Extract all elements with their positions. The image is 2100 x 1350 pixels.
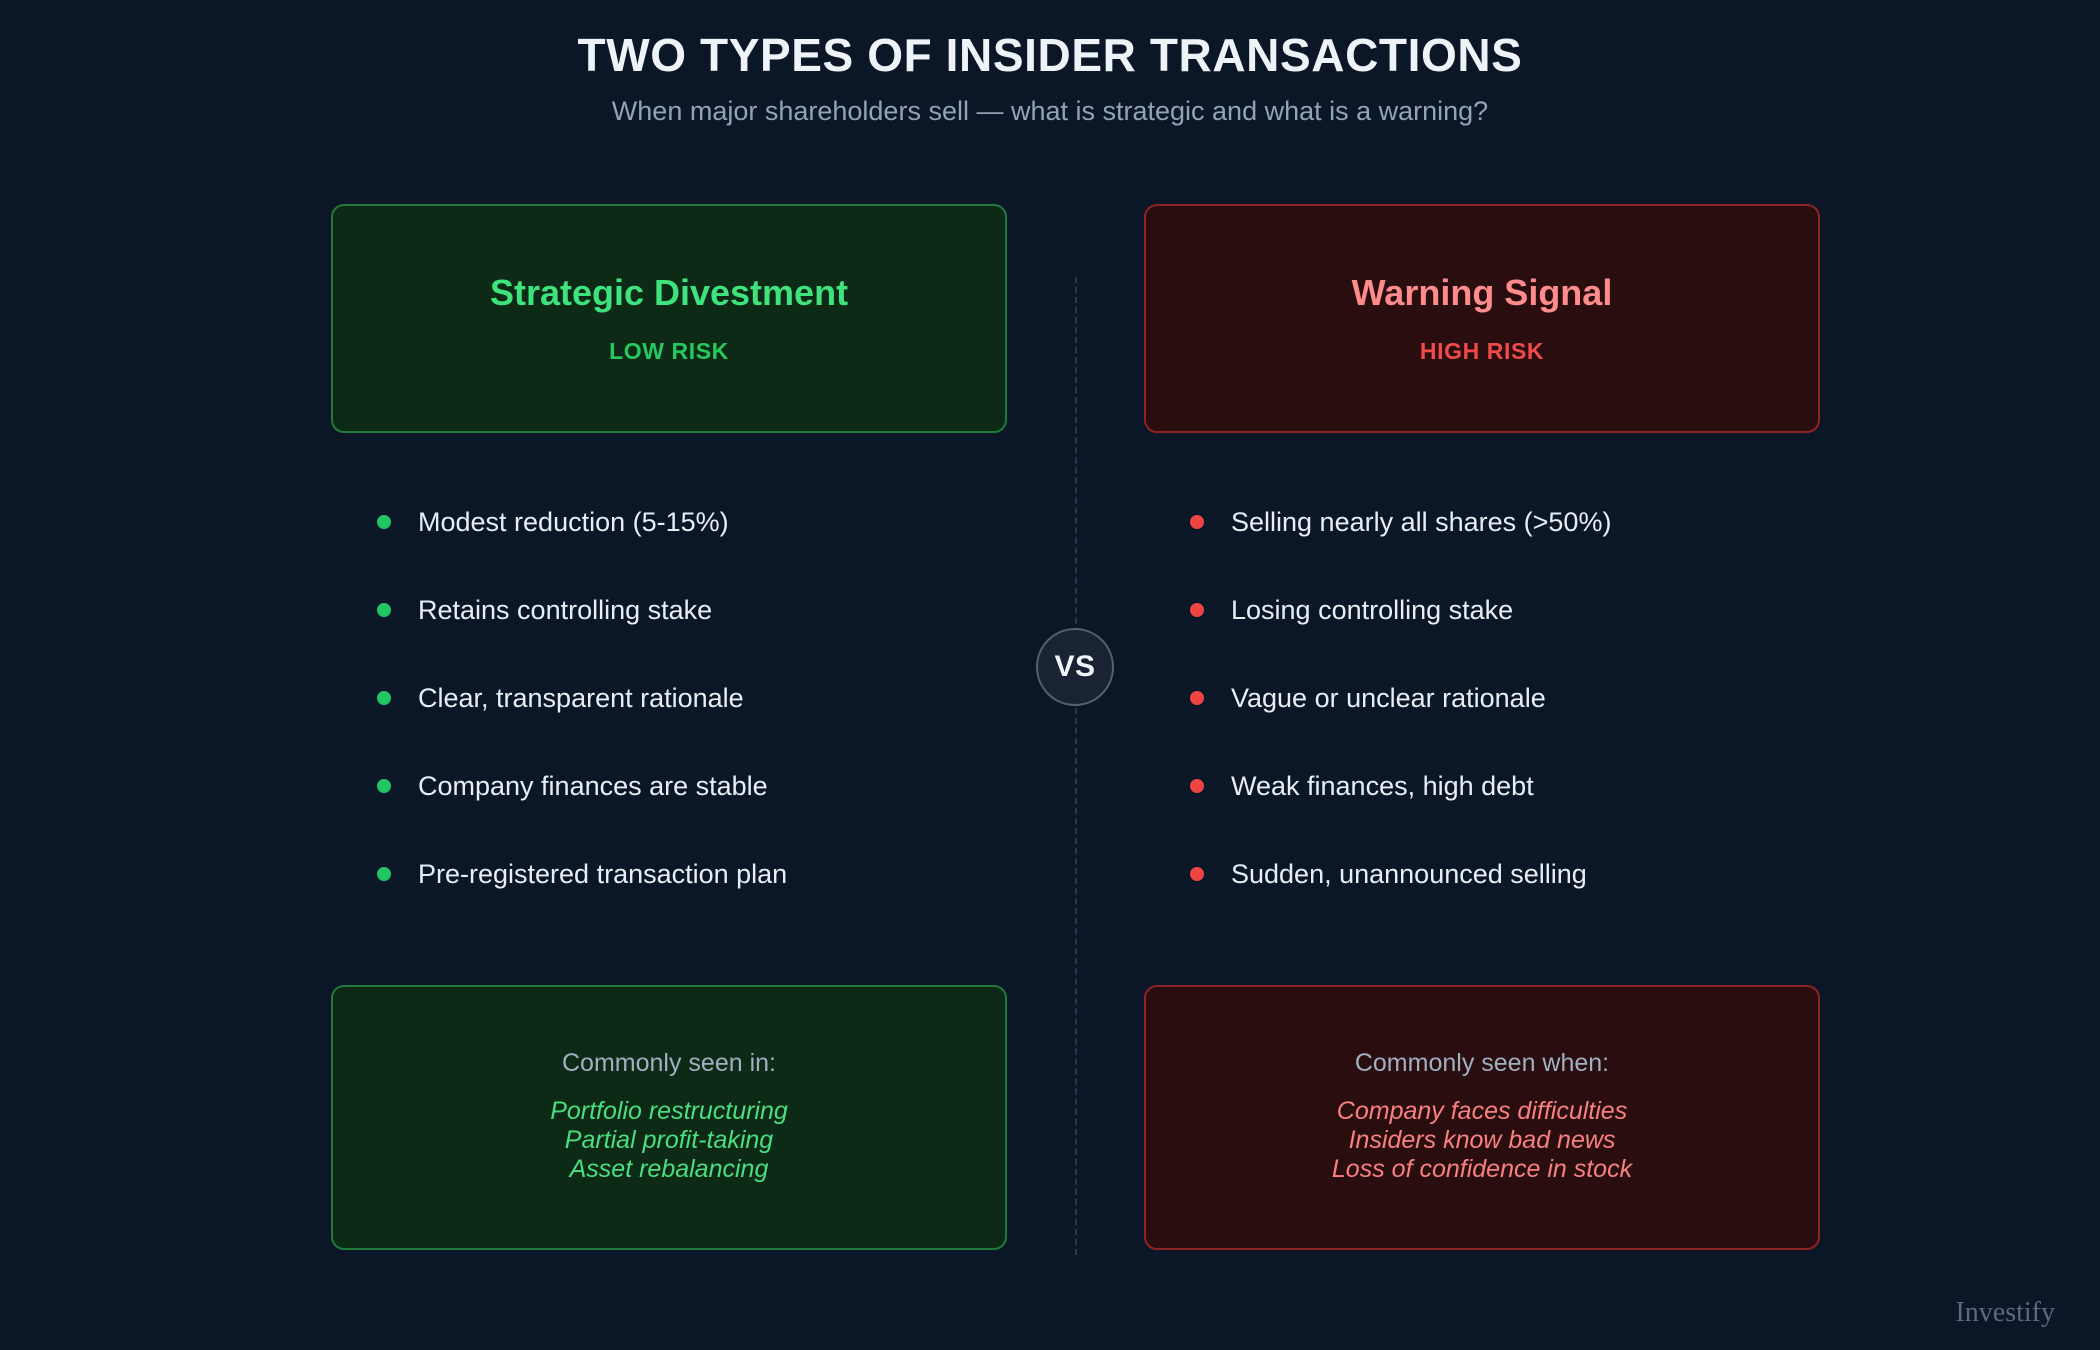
header-card-strategic-divestment: Strategic Divestment LOW RISK — [331, 204, 1007, 433]
list-item: Sudden, unannounced selling — [1144, 830, 1820, 918]
header-card-warning-signal: Warning Signal HIGH RISK — [1144, 204, 1820, 433]
green-dot-icon — [377, 603, 391, 617]
green-dot-icon — [377, 779, 391, 793]
list-item-label: Clear, transparent rationale — [418, 685, 744, 712]
green-dot-icon — [377, 867, 391, 881]
footer-label-commonly-seen-when: Commonly seen when: — [1355, 1051, 1609, 1097]
footer-item: Company faces difficulties — [1337, 1097, 1627, 1126]
card-title-warning-signal: Warning Signal — [1352, 275, 1613, 311]
vs-label: VS — [1054, 652, 1095, 682]
list-item: Losing controlling stake — [1144, 566, 1820, 654]
list-item: Clear, transparent rationale — [331, 654, 1007, 742]
list-item-label: Pre-registered transaction plan — [418, 861, 787, 888]
list-item-label: Selling nearly all shares (>50%) — [1231, 509, 1611, 536]
footer-item: Insiders know bad news — [1349, 1126, 1616, 1155]
footer-card-strategic-divestment: Commonly seen in: Portfolio restructurin… — [331, 985, 1007, 1250]
risk-badge-high: HIGH RISK — [1420, 311, 1544, 363]
list-item-label: Vague or unclear rationale — [1231, 685, 1546, 712]
red-dot-icon — [1190, 867, 1204, 881]
bullet-list-strategic-divestment: Modest reduction (5-15%) Retains control… — [331, 478, 1007, 918]
red-dot-icon — [1190, 515, 1204, 529]
list-item-label: Retains controlling stake — [418, 597, 712, 624]
list-item: Retains controlling stake — [331, 566, 1007, 654]
red-dot-icon — [1190, 603, 1204, 617]
page-title: TWO TYPES OF INSIDER TRANSACTIONS — [0, 30, 2100, 81]
list-item: Pre-registered transaction plan — [331, 830, 1007, 918]
list-item-label: Modest reduction (5-15%) — [418, 509, 729, 536]
column-warning-signal: Warning Signal HIGH RISK Selling nearly … — [1144, 204, 1820, 433]
list-item: Selling nearly all shares (>50%) — [1144, 478, 1820, 566]
card-title-strategic-divestment: Strategic Divestment — [490, 275, 848, 311]
list-item: Company finances are stable — [331, 742, 1007, 830]
vs-badge: VS — [1036, 628, 1114, 706]
green-dot-icon — [377, 515, 391, 529]
footer-item: Partial profit-taking — [565, 1126, 773, 1155]
red-dot-icon — [1190, 779, 1204, 793]
risk-badge-low: LOW RISK — [609, 311, 729, 363]
list-item: Weak finances, high debt — [1144, 742, 1820, 830]
vertical-dashed-divider — [1075, 277, 1077, 1255]
red-dot-icon — [1190, 691, 1204, 705]
page-subtitle: When major shareholders sell — what is s… — [0, 81, 2100, 127]
footer-item: Portfolio restructuring — [550, 1097, 788, 1126]
list-item: Modest reduction (5-15%) — [331, 478, 1007, 566]
list-item-label: Sudden, unannounced selling — [1231, 861, 1587, 888]
list-item-label: Losing controlling stake — [1231, 597, 1513, 624]
footer-card-warning-signal: Commonly seen when: Company faces diffic… — [1144, 985, 1820, 1250]
footer-item: Asset rebalancing — [570, 1155, 769, 1184]
list-item-label: Weak finances, high debt — [1231, 773, 1534, 800]
footer-item: Loss of confidence in stock — [1332, 1155, 1632, 1184]
green-dot-icon — [377, 691, 391, 705]
footer-label-commonly-seen-in: Commonly seen in: — [562, 1051, 776, 1097]
list-item-label: Company finances are stable — [418, 773, 768, 800]
list-item: Vague or unclear rationale — [1144, 654, 1820, 742]
column-strategic-divestment: Strategic Divestment LOW RISK Modest red… — [331, 204, 1007, 433]
bullet-list-warning-signal: Selling nearly all shares (>50%) Losing … — [1144, 478, 1820, 918]
brand-watermark: Investify — [1955, 1299, 2055, 1327]
page-header: TWO TYPES OF INSIDER TRANSACTIONS When m… — [0, 0, 2100, 126]
